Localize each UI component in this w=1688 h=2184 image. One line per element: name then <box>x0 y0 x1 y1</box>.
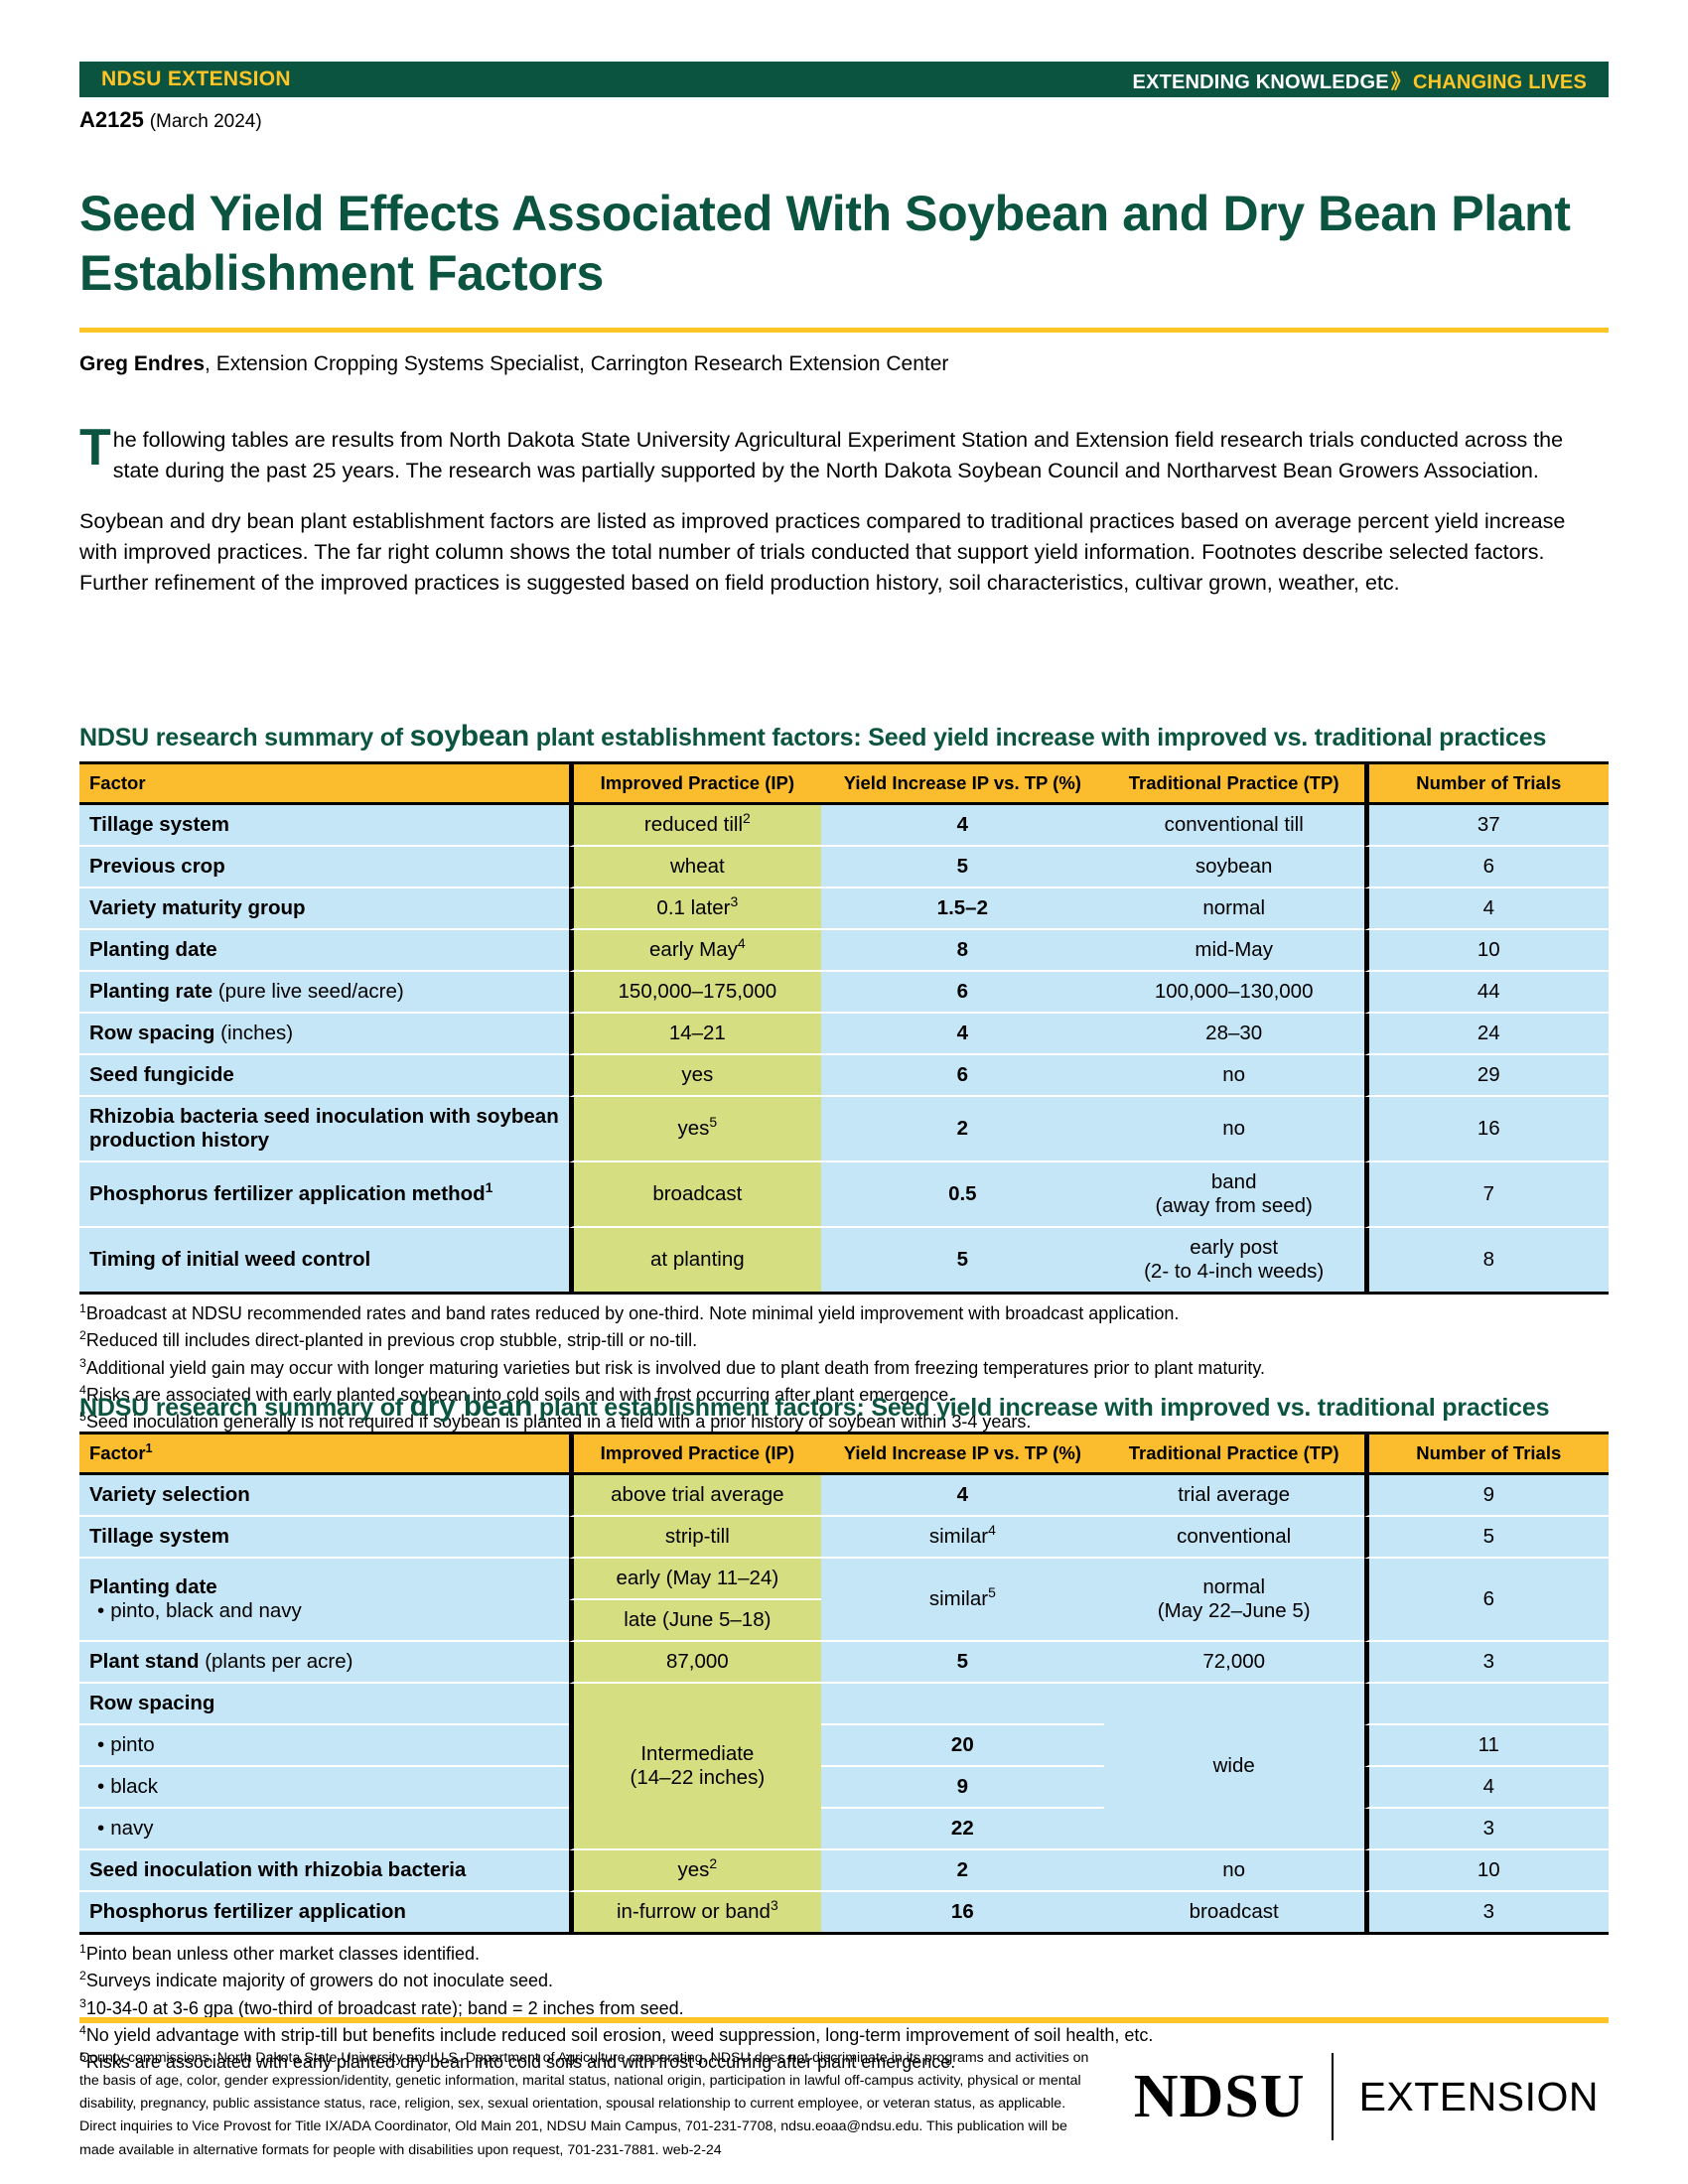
ndsu-extension-banner: NDSU EXTENSION EXTENDING KNOWLEDGE》CHANG… <box>79 62 1609 97</box>
drop-cap: T <box>79 427 113 470</box>
col-header-yield-increase: Yield Increase IP vs. TP (%) <box>821 761 1104 805</box>
row-improved-practice: yes2 <box>569 1850 821 1892</box>
table-row: Phosphorus fertilizer application method… <box>79 1162 1609 1228</box>
col-header-traditional-practice: Traditional Practice (TP) <box>1104 1432 1364 1475</box>
footnote-text: Reduced till includes direct-planted in … <box>86 1330 697 1350</box>
legal-line: the basis of age, color, gender expressi… <box>79 2070 1092 2093</box>
row-number-of-trials: 44 <box>1364 972 1609 1014</box>
soybean-section: NDSU research summary of soybean plant e… <box>79 720 1609 1436</box>
row-improved-practice: at planting <box>569 1228 821 1295</box>
row-number-of-trials: 10 <box>1364 930 1609 972</box>
table-row: Previous cropwheat5soybean6 <box>79 847 1609 888</box>
col-header-number-of-trials: Number of Trials <box>1364 1432 1609 1475</box>
row-factor: Rhizobia bacteria seed inoculation with … <box>79 1097 569 1162</box>
table-row: Planting dateearly May48mid-May10 <box>79 930 1609 972</box>
row-factor: Row spacing (inches) <box>79 1014 569 1055</box>
row-factor-sub: black <box>79 1767 569 1809</box>
row-number-of-trials: 6 <box>1364 1559 1609 1642</box>
table-row: Variety maturity group0.1 later31.5–2nor… <box>79 888 1609 930</box>
row-yield-increase: 0.5 <box>821 1162 1104 1228</box>
tagline-extending: EXTENDING KNOWLEDGE <box>1132 71 1388 93</box>
row-traditional-practice: broadcast <box>1104 1892 1364 1935</box>
row-number-of-trials: 10 <box>1364 1850 1609 1892</box>
row-number-of-trials <box>1364 1684 1609 1725</box>
caption-prefix: NDSU research summary of <box>79 724 410 751</box>
table-row: Row spacing (inches)14–21428–3024 <box>79 1014 1609 1055</box>
row-yield-increase: 8 <box>821 930 1104 972</box>
banner-tagline: EXTENDING KNOWLEDGE》CHANGING LIVES <box>1132 66 1587 94</box>
row-traditional-practice: conventional <box>1104 1517 1364 1559</box>
row-yield-increase: 4 <box>821 805 1104 847</box>
soybean-table: Factor Improved Practice (IP) Yield Incr… <box>79 761 1609 1295</box>
intro-paragraph-2: Soybean and dry bean plant establishment… <box>79 506 1609 599</box>
drybean-section: NDSU research summary of dry bean plant … <box>79 1390 1609 2077</box>
row-yield-increase: 4 <box>821 1014 1104 1055</box>
row-yield-increase: 5 <box>821 1642 1104 1684</box>
drybean-table: Factor1 Improved Practice (IP) Yield Inc… <box>79 1432 1609 1935</box>
banner-brand: NDSU EXTENSION <box>101 68 291 91</box>
footer-divider <box>79 2017 1609 2023</box>
row-number-of-trials: 16 <box>1364 1097 1609 1162</box>
row-yield-increase: 5 <box>821 847 1104 888</box>
tagline-changing: CHANGING LIVES <box>1413 71 1587 93</box>
drybean-table-body: Variety selection above trial average 4 … <box>79 1475 1609 1935</box>
caption-crop-name: soybean <box>410 720 529 752</box>
double-chevron-icon: 》 <box>1389 71 1413 93</box>
row-number-of-trials: 3 <box>1364 1809 1609 1850</box>
row-yield-increase: 16 <box>821 1892 1104 1935</box>
table-row: Planting date pinto, black and navy earl… <box>79 1559 1609 1600</box>
row-yield-increase: similar4 <box>821 1517 1104 1559</box>
row-factor: Row spacing <box>79 1684 569 1725</box>
row-factor: Plant stand (plants per acre) <box>79 1642 569 1684</box>
row-factor: Phosphorus fertilizer application <box>79 1892 569 1935</box>
row-traditional-practice: band(away from seed) <box>1104 1162 1364 1228</box>
row-traditional-practice: soybean <box>1104 847 1364 888</box>
ndsu-extension-logo: NDSU EXTENSION <box>1134 2053 1599 2140</box>
legal-line: made available in alternative formats fo… <box>79 2139 1092 2162</box>
row-traditional-practice: early post(2- to 4-inch weeds) <box>1104 1228 1364 1295</box>
table-row: Plant stand (plants per acre) 87,000 5 7… <box>79 1642 1609 1684</box>
row-factor-bullet: pinto, black and navy <box>89 1599 563 1623</box>
footnote-text: Surveys indicate majority of growers do … <box>86 1971 553 1990</box>
caption-suffix: plant establishment factors: Seed yield … <box>532 1394 1549 1422</box>
row-traditional-practice: 28–30 <box>1104 1014 1364 1055</box>
row-improved-practice-early: early (May 11–24) <box>569 1559 821 1600</box>
row-number-of-trials: 11 <box>1364 1725 1609 1767</box>
row-traditional-practice: normal <box>1104 888 1364 930</box>
page-footer: County commissions, North Dakota State U… <box>79 2047 1609 2162</box>
row-traditional-practice: no <box>1104 1055 1364 1097</box>
row-number-of-trials: 4 <box>1364 888 1609 930</box>
row-factor: Seed inoculation with rhizobia bacteria <box>79 1850 569 1892</box>
soybean-table-caption: NDSU research summary of soybean plant e… <box>79 720 1609 753</box>
row-factor: Planting rate (pure live seed/acre) <box>79 972 569 1014</box>
publication-id: A2125 (March 2024) <box>79 107 262 133</box>
row-factor: Timing of initial weed control <box>79 1228 569 1295</box>
row-improved-practice: 0.1 later3 <box>569 888 821 930</box>
row-number-of-trials: 9 <box>1364 1475 1609 1517</box>
row-improved-practice-late: late (June 5–18) <box>569 1600 821 1642</box>
row-number-of-trials: 8 <box>1364 1228 1609 1295</box>
row-traditional-practice: no <box>1104 1850 1364 1892</box>
row-factor-sub: pinto <box>79 1725 569 1767</box>
caption-suffix: plant establishment factors: Seed yield … <box>529 724 1546 751</box>
table-row: navy 22 3 <box>79 1809 1609 1850</box>
col-header-improved-practice: Improved Practice (IP) <box>569 761 821 805</box>
ndsu-wordmark: NDSU <box>1134 2066 1306 2127</box>
row-traditional-practice: mid-May <box>1104 930 1364 972</box>
caption-prefix: NDSU research summary of <box>79 1394 410 1422</box>
table-row: Row spacing Intermediate (14–22 inches) … <box>79 1684 1609 1725</box>
table-row: pinto 20 11 <box>79 1725 1609 1767</box>
table-row: Planting rate (pure live seed/acre)150,0… <box>79 972 1609 1014</box>
row-yield-increase: 2 <box>821 1097 1104 1162</box>
row-improved-practice: strip-till <box>569 1517 821 1559</box>
table-row: Rhizobia bacteria seed inoculation with … <box>79 1097 1609 1162</box>
row-number-of-trials: 3 <box>1364 1642 1609 1684</box>
row-improved-practice: in-furrow or band3 <box>569 1892 821 1935</box>
table-row: Tillage system strip-till similar4 conve… <box>79 1517 1609 1559</box>
extension-wordmark: EXTENSION <box>1359 2074 1599 2120</box>
row-improved-practice: 150,000–175,000 <box>569 972 821 1014</box>
row-number-of-trials: 4 <box>1364 1767 1609 1809</box>
footnote-item: 3Additional yield gain may occur with lo… <box>79 1355 1609 1382</box>
factor-header-footnote-marker: 1 <box>146 1441 153 1455</box>
row-factor: Seed fungicide <box>79 1055 569 1097</box>
row-yield-increase: 22 <box>821 1809 1104 1850</box>
row-yield-increase <box>821 1684 1104 1725</box>
row-number-of-trials: 7 <box>1364 1162 1609 1228</box>
row-number-of-trials: 3 <box>1364 1892 1609 1935</box>
footnote-text: Broadcast at NDSU recommended rates and … <box>86 1303 1180 1323</box>
footnote-text: 10-34-0 at 3-6 gpa (two-third of broadca… <box>86 1998 684 2018</box>
row-improved-practice: 87,000 <box>569 1642 821 1684</box>
row-improved-practice: above trial average <box>569 1475 821 1517</box>
row-number-of-trials: 5 <box>1364 1517 1609 1559</box>
pub-code: A2125 <box>79 107 144 132</box>
row-improved-practice: reduced till2 <box>569 805 821 847</box>
row-traditional-practice: 72,000 <box>1104 1642 1364 1684</box>
page-title: Seed Yield Effects Associated With Soybe… <box>79 184 1609 303</box>
footnote-text: Additional yield gain may occur with lon… <box>86 1358 1265 1378</box>
legal-line: County commissions, North Dakota State U… <box>79 2047 1092 2070</box>
table-row: Variety selection above trial average 4 … <box>79 1475 1609 1517</box>
row-factor: Planting date <box>79 930 569 972</box>
row-factor: Phosphorus fertilizer application method… <box>79 1162 569 1228</box>
col-header-traditional-practice: Traditional Practice (TP) <box>1104 761 1364 805</box>
logo-divider <box>1332 2053 1334 2140</box>
row-traditional-practice: wide <box>1104 1684 1364 1850</box>
legal-notice: County commissions, North Dakota State U… <box>79 2047 1092 2162</box>
footnote-item: 2Surveys indicate majority of growers do… <box>79 1968 1609 1994</box>
row-factor: Planting date pinto, black and navy <box>79 1559 569 1642</box>
table-header-row: Factor1 Improved Practice (IP) Yield Inc… <box>79 1432 1609 1475</box>
row-factor-sub: navy <box>79 1809 569 1850</box>
row-yield-increase: 20 <box>821 1725 1104 1767</box>
row-improved-practice: Intermediate (14–22 inches) <box>569 1684 821 1850</box>
row-number-of-trials: 24 <box>1364 1014 1609 1055</box>
row-yield-increase: 6 <box>821 1055 1104 1097</box>
row-factor: Variety selection <box>79 1475 569 1517</box>
footnote-item: 4No yield advantage with strip-till but … <box>79 2022 1609 2049</box>
table-row: Timing of initial weed controlat plantin… <box>79 1228 1609 1295</box>
row-factor: Tillage system <box>79 805 569 847</box>
pub-date: (March 2024) <box>150 111 262 132</box>
document-page: NDSU EXTENSION EXTENDING KNOWLEDGE》CHANG… <box>0 0 1688 2184</box>
table-header-row: Factor Improved Practice (IP) Yield Incr… <box>79 761 1609 805</box>
table-row: black 9 4 <box>79 1767 1609 1809</box>
row-yield-increase: 9 <box>821 1767 1104 1809</box>
col-header-factor: Factor <box>79 761 569 805</box>
row-improved-practice: yes <box>569 1055 821 1097</box>
row-yield-increase: similar5 <box>821 1559 1104 1642</box>
intro-paragraph-1: The following tables are results from No… <box>79 425 1609 486</box>
table-row: Tillage systemreduced till24conventional… <box>79 805 1609 847</box>
row-improved-practice: yes5 <box>569 1097 821 1162</box>
legal-line: disability, pregnancy, public assistance… <box>79 2093 1092 2116</box>
row-yield-increase: 2 <box>821 1850 1104 1892</box>
footnote-text: Pinto bean unless other market classes i… <box>86 1944 480 1964</box>
row-traditional-practice: normal(May 22–June 5) <box>1104 1559 1364 1642</box>
legal-line: Direct inquiries to Vice Provost for Tit… <box>79 2116 1092 2138</box>
row-improved-practice: wheat <box>569 847 821 888</box>
table-row: Seed fungicideyes6no29 <box>79 1055 1609 1097</box>
intro-text: The following tables are results from No… <box>79 425 1609 618</box>
row-number-of-trials: 29 <box>1364 1055 1609 1097</box>
intro-p1-body: he following tables are results from Nor… <box>113 428 1563 482</box>
footnote-item: 1Broadcast at NDSU recommended rates and… <box>79 1300 1609 1327</box>
row-number-of-trials: 37 <box>1364 805 1609 847</box>
table-row: Phosphorus fertilizer application in-fur… <box>79 1892 1609 1935</box>
col-header-improved-practice: Improved Practice (IP) <box>569 1432 821 1475</box>
row-improved-practice: 14–21 <box>569 1014 821 1055</box>
row-traditional-practice: conventional till <box>1104 805 1364 847</box>
row-yield-increase: 5 <box>821 1228 1104 1295</box>
col-header-number-of-trials: Number of Trials <box>1364 761 1609 805</box>
row-number-of-trials: 6 <box>1364 847 1609 888</box>
col-header-factor: Factor1 <box>79 1432 569 1475</box>
author-affiliation: , Extension Cropping Systems Specialist,… <box>205 352 948 375</box>
col-header-yield-increase: Yield Increase IP vs. TP (%) <box>821 1432 1104 1475</box>
row-traditional-practice: no <box>1104 1097 1364 1162</box>
author-byline: Greg Endres, Extension Cropping Systems … <box>79 352 948 376</box>
footnote-text: No yield advantage with strip-till but b… <box>86 2025 1154 2045</box>
row-yield-increase: 6 <box>821 972 1104 1014</box>
footnote-item: 2Reduced till includes direct-planted in… <box>79 1327 1609 1354</box>
row-improved-practice: early May4 <box>569 930 821 972</box>
row-yield-increase: 1.5–2 <box>821 888 1104 930</box>
row-factor: Variety maturity group <box>79 888 569 930</box>
row-factor: Tillage system <box>79 1517 569 1559</box>
table-row: Seed inoculation with rhizobia bacteria … <box>79 1850 1609 1892</box>
author-name: Greg Endres <box>79 352 205 375</box>
row-improved-practice: broadcast <box>569 1162 821 1228</box>
row-traditional-practice: trial average <box>1104 1475 1364 1517</box>
row-traditional-practice: 100,000–130,000 <box>1104 972 1364 1014</box>
caption-crop-name: dry bean <box>410 1390 532 1423</box>
drybean-table-caption: NDSU research summary of dry bean plant … <box>79 1390 1609 1424</box>
row-factor: Previous crop <box>79 847 569 888</box>
title-divider <box>79 328 1609 333</box>
footnote-item: 1Pinto bean unless other market classes … <box>79 1941 1609 1968</box>
row-yield-increase: 4 <box>821 1475 1104 1517</box>
